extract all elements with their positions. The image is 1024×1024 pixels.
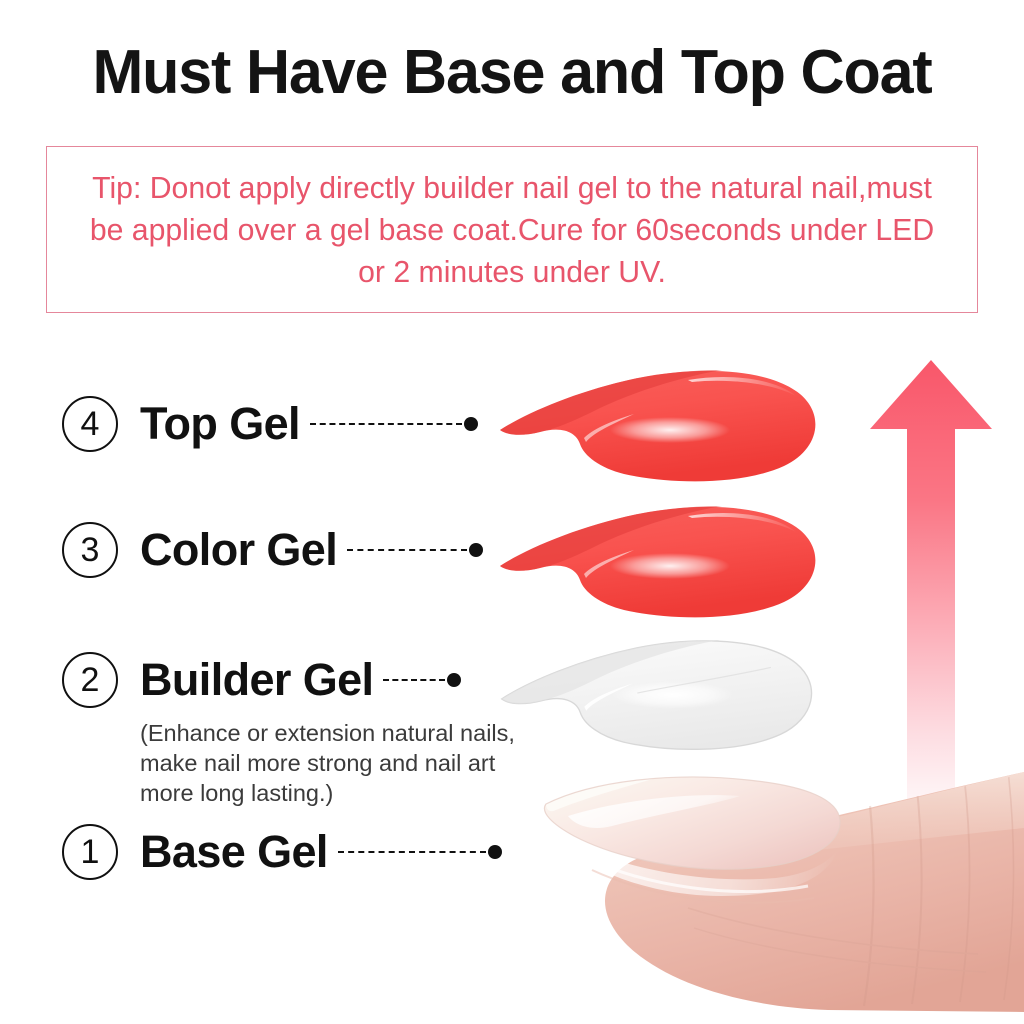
leader-dot-1 [488,845,502,859]
fingertip-photo [508,758,1024,1024]
leader-dash-2 [383,679,445,681]
step-3-color-gel[interactable]: 3 Color Gel [62,522,483,578]
step-label-builder-gel: Builder Gel [140,656,373,704]
step-2-note: (Enhance or extension natural nails, mak… [140,718,540,808]
infographic-canvas: Must Have Base and Top Coat Tip: Donot a… [0,0,1024,1024]
leader-dot-4 [464,417,478,431]
swatch-top-gel-blob [488,364,824,486]
leader-dot-2 [447,673,461,687]
leader-dash-3 [347,549,467,551]
leader-line-2 [383,673,461,687]
tip-text: Tip: Donot apply directly builder nail g… [72,167,951,293]
step-2-builder-gel[interactable]: 2 Builder Gel [62,652,461,708]
page-title: Must Have Base and Top Coat [8,40,1017,106]
step-label-base-gel: Base Gel [140,828,328,876]
step-4-top-gel[interactable]: 4 Top Gel [62,396,478,452]
leader-dot-3 [469,543,483,557]
step-number-2: 2 [62,652,118,708]
leader-line-3 [347,543,483,557]
step-number-1: 1 [62,824,118,880]
leader-dash-1 [338,851,486,853]
step-number-4: 4 [62,396,118,452]
step-1-base-gel[interactable]: 1 Base Gel [62,824,502,880]
leader-line-1 [338,845,502,859]
leader-dash-4 [310,423,462,425]
tip-text-container: Tip: Donot apply directly builder nail g… [46,146,978,313]
swatch-builder-gel-blob [490,634,820,754]
step-label-top-gel: Top Gel [140,400,300,448]
leader-line-4 [310,417,478,431]
step-number-3: 3 [62,522,118,578]
swatch-color-gel-blob [488,500,824,622]
step-label-color-gel: Color Gel [140,526,337,574]
